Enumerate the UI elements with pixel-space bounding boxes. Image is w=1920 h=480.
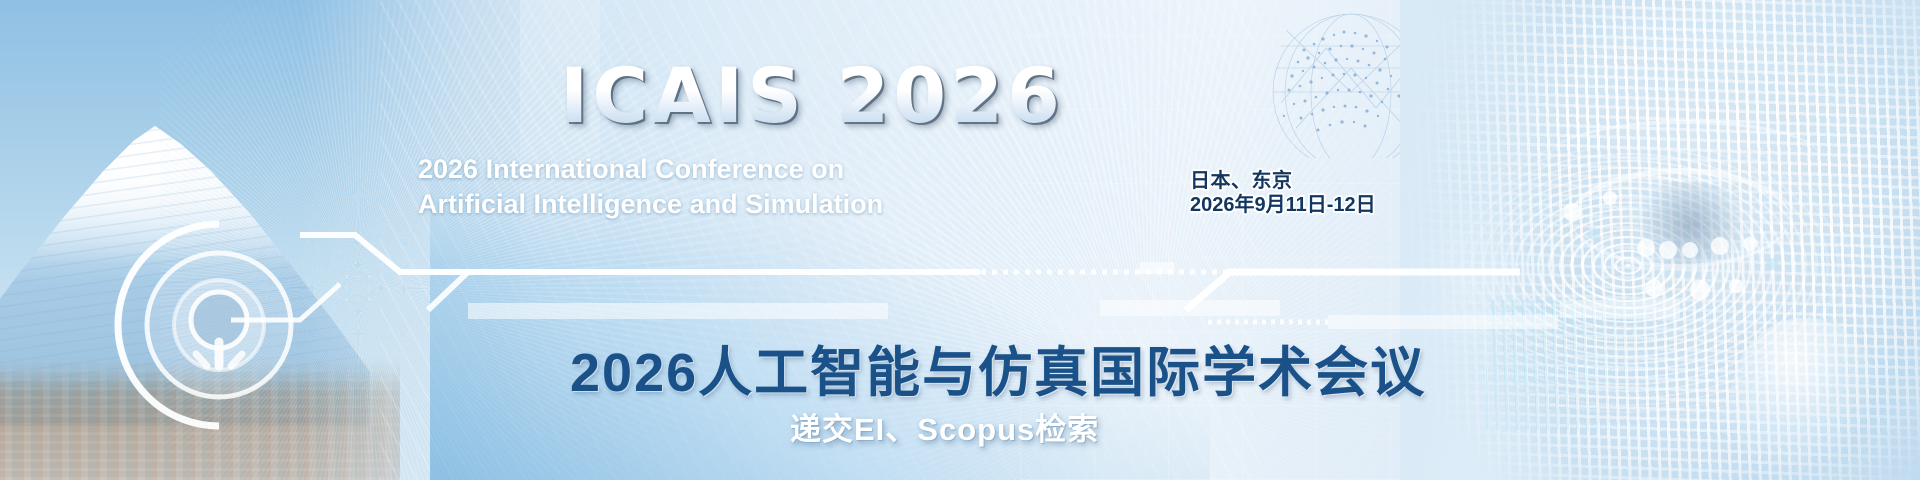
- subtitle-line-2: Artificial Intelligence and Simulation: [418, 187, 978, 222]
- page-title: ICAIS 2026: [560, 58, 1064, 134]
- location-text: 日本、东京: [1190, 170, 1376, 192]
- subtitle-line-1: 2026 International Conference on: [418, 152, 978, 187]
- indexing-tagline: 递交EI、Scopus检索: [790, 404, 1099, 449]
- subtitle-english: 2026 International Conference on Artific…: [418, 152, 978, 221]
- date-text: 2026年9月11日-12日: [1190, 194, 1376, 216]
- location-date-block: 日本、东京 2026年9月11日-12日: [1190, 170, 1376, 216]
- title-chinese: 2026人工智能与仿真国际学术会议: [570, 328, 1426, 407]
- conference-banner: ICAIS 2026 2026 International Conference…: [0, 0, 1920, 480]
